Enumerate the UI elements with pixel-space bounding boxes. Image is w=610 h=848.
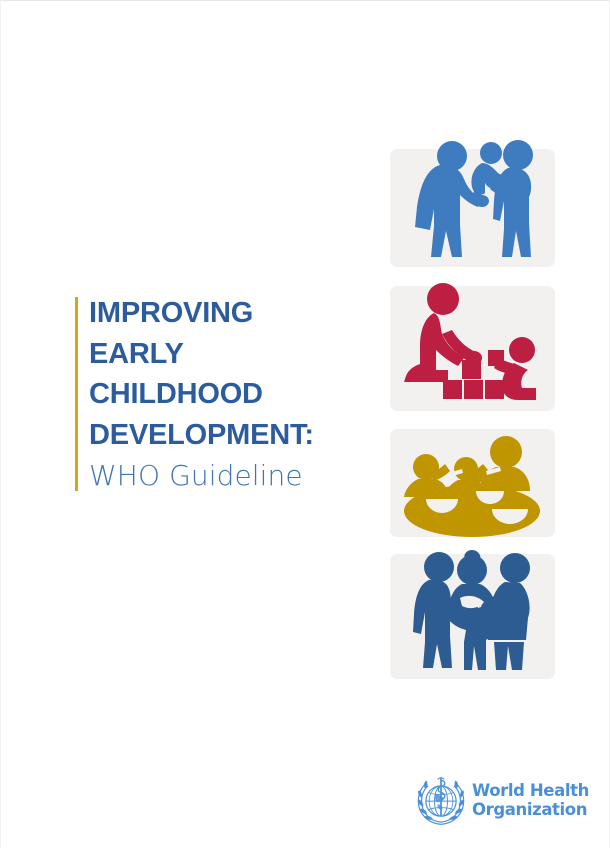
document-cover-page: IMPROVING EARLY CHILDHOOD DEVELOPMENT: W… bbox=[0, 0, 610, 848]
page-title: IMPROVING EARLY CHILDHOOD DEVELOPMENT: W… bbox=[89, 293, 379, 496]
adult-and-child-playing-blocks-icon bbox=[390, 278, 555, 411]
caregivers-with-baby-icon bbox=[390, 135, 555, 267]
title-line-3: CHILDHOOD bbox=[89, 374, 379, 415]
who-name-line-1: World Health bbox=[472, 781, 589, 800]
page-subtitle: WHO Guideline bbox=[89, 455, 379, 496]
who-emblem-icon bbox=[414, 773, 468, 827]
title-accent-bar bbox=[75, 297, 78, 491]
illustration-panel-early-learning bbox=[390, 286, 555, 411]
title-line-2: EARLY bbox=[89, 334, 379, 375]
illustration-panel-maternal-health bbox=[390, 554, 555, 679]
title-line-1: IMPROVING bbox=[89, 293, 379, 334]
pregnant-woman-with-family-icon bbox=[390, 546, 555, 679]
illustration-panel-nutrition bbox=[390, 429, 555, 537]
title-line-4: DEVELOPMENT: bbox=[89, 415, 379, 456]
illustration-panel-responsive-caregiving bbox=[390, 149, 555, 267]
family-eating-meal-icon bbox=[390, 429, 555, 537]
who-name-line-2: Organization bbox=[472, 800, 589, 819]
who-wordmark: World Health Organization bbox=[472, 781, 589, 819]
who-logo: World Health Organization bbox=[414, 773, 574, 829]
